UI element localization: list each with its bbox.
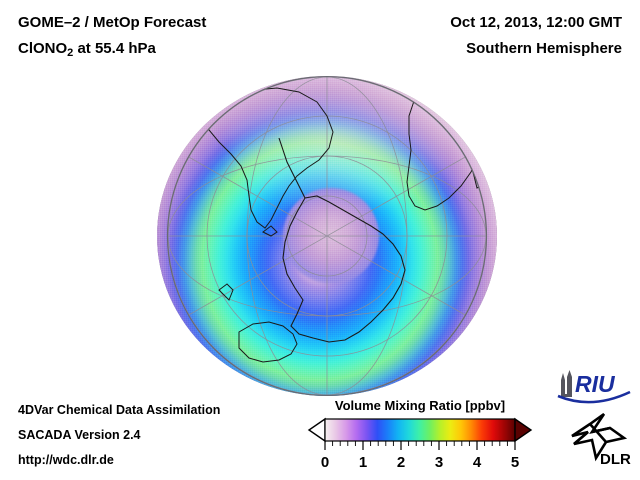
- colorbar-tick-5: 5: [511, 454, 519, 471]
- colorbar: Volume Mixing Ratio [ppbv]: [305, 398, 535, 477]
- riu-logo[interactable]: RIU: [556, 368, 632, 409]
- pressure-level: at 55.4 hPa: [73, 40, 156, 57]
- footer-line-1: 4DVar Chemical Data Assimilation: [18, 403, 220, 417]
- colorbar-tick-0: 0: [321, 454, 329, 471]
- riu-logo-svg: RIU: [556, 368, 632, 404]
- footer-url[interactable]: http://wdc.dlr.de: [18, 453, 114, 467]
- colorbar-major-ticks: [325, 441, 515, 450]
- page-title: GOME–2 / MetOp Forecast: [18, 14, 206, 31]
- riu-logo-text: RIU: [575, 371, 616, 397]
- colorbar-tick-2: 2: [397, 454, 405, 471]
- globe-disc: [157, 76, 497, 396]
- hemisphere-label: Southern Hemisphere: [466, 40, 622, 57]
- limb-highlight: [157, 76, 497, 396]
- colorbar-tick-1: 1: [359, 454, 367, 471]
- species-name: ClONO: [18, 40, 67, 57]
- colorbar-low-arrow: [309, 419, 325, 441]
- colorbar-minor-ticks: [333, 441, 508, 446]
- forecast-timestamp: Oct 12, 2013, 12:00 GMT: [450, 14, 622, 31]
- colorbar-tick-4: 4: [473, 454, 482, 471]
- dlr-logo-svg: DLR: [566, 412, 632, 468]
- colorbar-title: Volume Mixing Ratio [ppbv]: [305, 398, 535, 413]
- colorbar-svg: 0 1 2 3 4 5: [305, 417, 535, 477]
- footer-line-2: SACADA Version 2.4: [18, 428, 141, 442]
- colorbar-tick-3: 3: [435, 454, 443, 471]
- colorbar-tick-labels: 0 1 2 3 4 5: [321, 454, 519, 471]
- species-level-label: ClONO2 at 55.4 hPa: [18, 40, 156, 59]
- dlr-logo-text: DLR: [600, 451, 631, 468]
- dlr-logo[interactable]: DLR: [566, 412, 632, 473]
- colorbar-gradient: [325, 419, 515, 441]
- riu-towers-icon: [561, 370, 572, 397]
- globe-map: [157, 76, 497, 396]
- colorbar-high-arrow: [515, 419, 531, 441]
